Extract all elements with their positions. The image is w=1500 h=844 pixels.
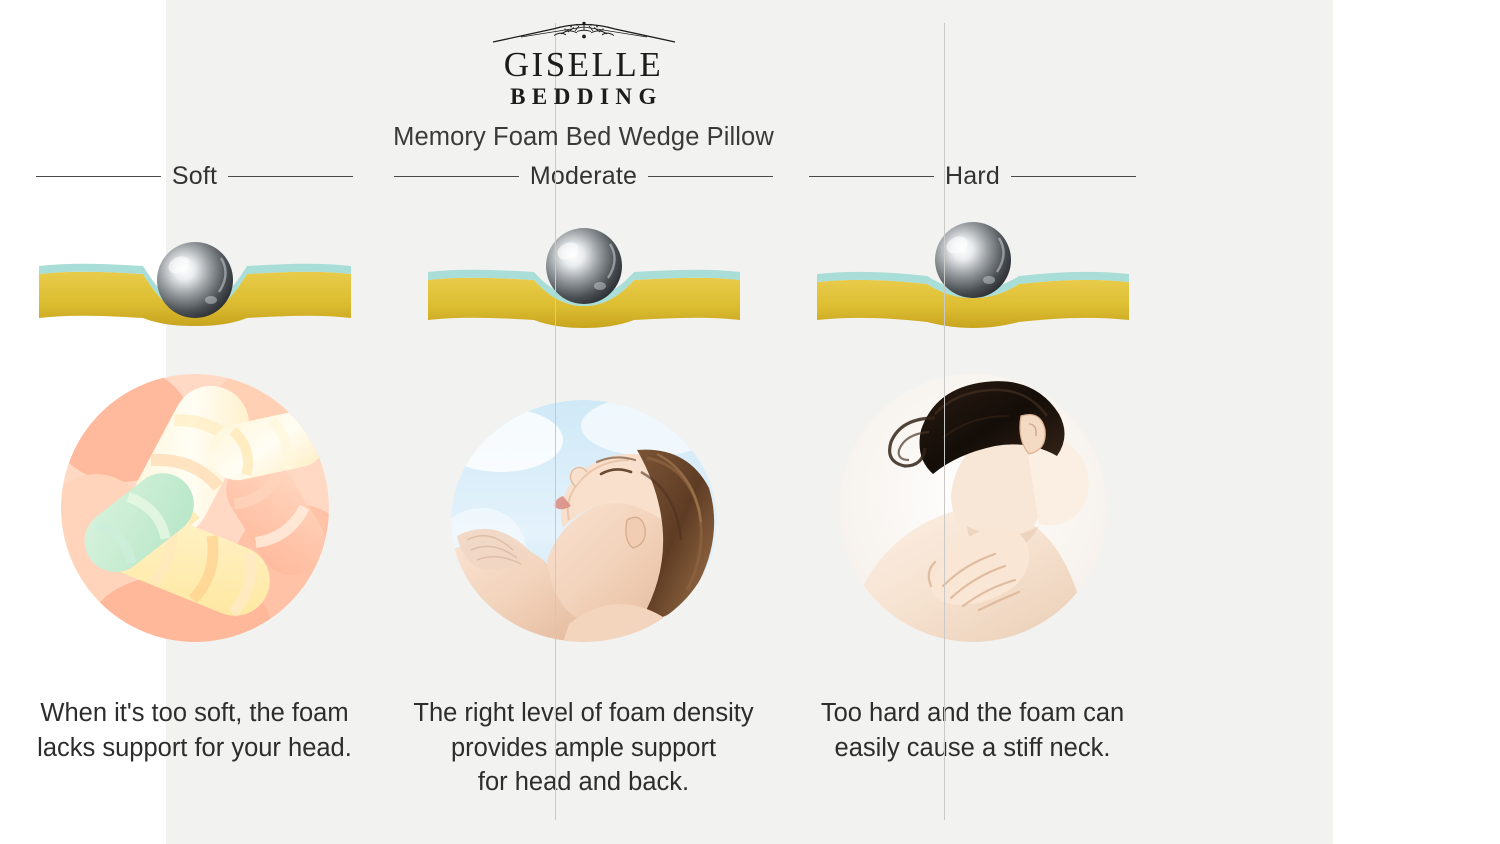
infographic-root: GISELLE BEDDING Memory Foam Bed Wedge Pi… <box>0 0 1500 844</box>
brand-name: GISELLE <box>0 47 1167 83</box>
brand-header: GISELLE BEDDING Memory Foam Bed Wedge Pi… <box>0 18 1167 152</box>
rule-left-icon <box>36 176 161 177</box>
ornamental-crest-icon <box>0 18 1167 45</box>
brand-sub: BEDDING <box>0 83 1167 112</box>
product-title: Memory Foam Bed Wedge Pillow <box>0 123 1167 152</box>
